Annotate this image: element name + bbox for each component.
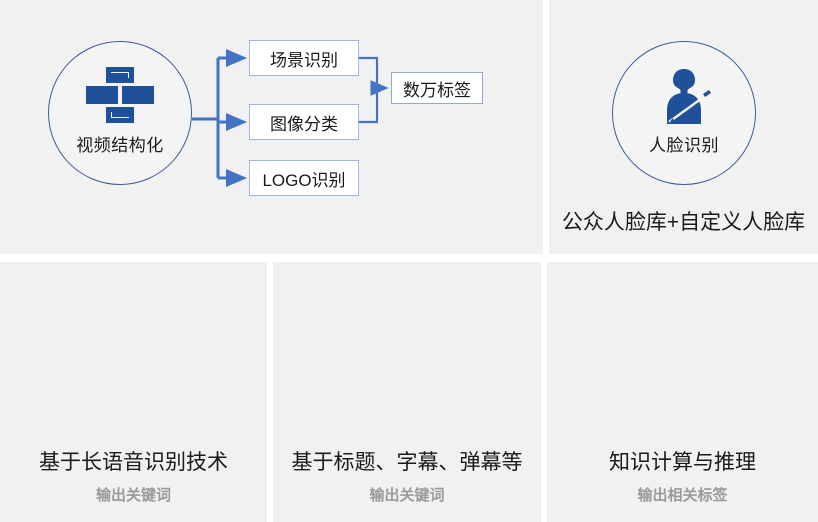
flow-box-logo-recognition[interactable]: LOGO识别 [249, 160, 359, 196]
face-recognition-icon [613, 66, 755, 128]
caption-text-sub: 输出关键词 [273, 484, 541, 505]
circle-label-video-structuring: 视频结构化 [49, 131, 191, 156]
caption-knowledge-main: 知识计算与推理 [547, 446, 818, 476]
flow-box-image-classification[interactable]: 图像分类 [249, 104, 359, 140]
caption-text-main: 基于标题、字幕、弹幕等 [273, 446, 541, 476]
capability-overview-board: 视频结构化 场景识别 图像分类 LOGO识别 数万标签 [0, 0, 818, 522]
caption-speech-sub: 输出关键词 [0, 484, 267, 505]
panel-speech-recognition: 语音识别 基于长语音识别技术 输出关键词 [0, 262, 267, 522]
flow-box-tens-of-thousands-tags[interactable]: 数万标签 [391, 72, 483, 104]
circle-label-face-recognition: 人脸识别 [613, 131, 755, 156]
circle-video-structuring[interactable]: 视频结构化 [48, 41, 192, 185]
panel-video-structuring: 视频结构化 场景识别 图像分类 LOGO识别 数万标签 [0, 0, 543, 254]
circle-face-recognition[interactable]: 人脸识别 [612, 41, 756, 185]
video-structuring-icon [49, 66, 191, 126]
flow-box-scene-recognition[interactable]: 场景识别 [249, 40, 359, 76]
caption-face-recognition: 公众人脸库+自定义人脸库 [549, 206, 818, 236]
panel-knowledge-graph: 知识图谱 知识计算与推理 输出相关标签 [547, 262, 818, 522]
caption-knowledge-sub: 输出相关标签 [547, 484, 818, 505]
panel-face-recognition: 人脸识别 公众人脸库+自定义人脸库 [549, 0, 818, 254]
caption-speech-main: 基于长语音识别技术 [0, 446, 267, 476]
panel-text-recognition: 文字识别 基于标题、字幕、弹幕等 输出关键词 [273, 262, 541, 522]
